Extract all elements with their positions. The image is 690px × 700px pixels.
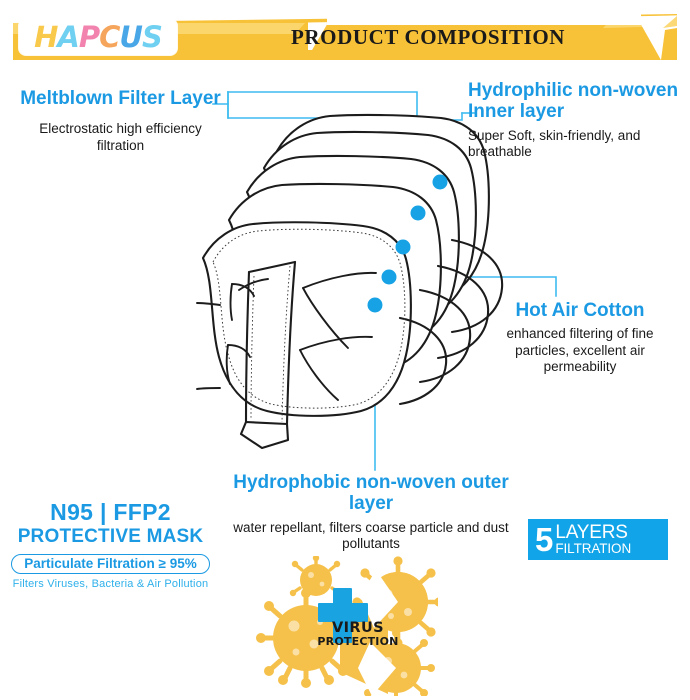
layers-count: 5	[535, 523, 553, 556]
mask-layer-1	[203, 222, 411, 416]
callout-title: Hydrophilic non-woven Inner layer	[468, 80, 682, 123]
callout-hydrophobic-outer-layer: Hydrophobic non-woven outer layer water …	[222, 472, 520, 553]
callout-body: Electrostatic high efficiency filtration	[18, 121, 223, 154]
certification-product-name: PROTECTIVE MASK	[8, 526, 213, 548]
infographic-canvas: HAPCUS PRODUCT COMPOSITION	[0, 0, 690, 700]
certification-subtext: Filters Viruses, Bacteria & Air Pollutio…	[8, 578, 213, 590]
filtration-badge: Particulate Filtration ≥ 95%	[11, 554, 209, 574]
filtration-label: FILTRATION	[555, 542, 631, 556]
certification-block: N95 | FFP2 PROTECTIVE MASK Particulate F…	[8, 500, 213, 590]
dot-hot-air	[382, 270, 397, 285]
layers-badge-text: LAYERS FILTRATION	[555, 523, 631, 556]
dot-inner-layer	[433, 175, 448, 190]
callout-body: Super Soft, skin-friendly, and breathabl…	[468, 128, 682, 161]
callout-title: Hydrophobic non-woven outer layer	[222, 472, 520, 515]
virus-label-line1: VIRUS	[308, 620, 408, 636]
virus-label-line2: PROTECTION	[308, 636, 408, 648]
callout-body: water repellant, filters coarse particle…	[222, 520, 520, 553]
dot-outer-layer	[368, 298, 383, 313]
dot-hot-air-upper	[411, 206, 426, 221]
callout-body: enhanced filtering of fine particles, ex…	[480, 326, 680, 375]
certification-standard: N95 | FFP2	[8, 500, 213, 525]
callout-meltblown-filter-layer: Meltblown Filter Layer Electrostatic hig…	[18, 88, 223, 154]
callout-title: Meltblown Filter Layer	[18, 88, 223, 109]
layers-label: LAYERS	[555, 523, 631, 542]
dot-meltblown	[396, 240, 411, 255]
layers-filtration-badge: 5 LAYERS FILTRATION	[528, 519, 668, 560]
virus-protection-label: VIRUS PROTECTION	[308, 620, 408, 649]
callout-title: Hot Air Cotton	[480, 300, 680, 321]
callout-hot-air-cotton: Hot Air Cotton enhanced filtering of fin…	[480, 300, 680, 376]
callout-hydrophilic-inner-layer: Hydrophilic non-woven Inner layer Super …	[468, 80, 682, 161]
